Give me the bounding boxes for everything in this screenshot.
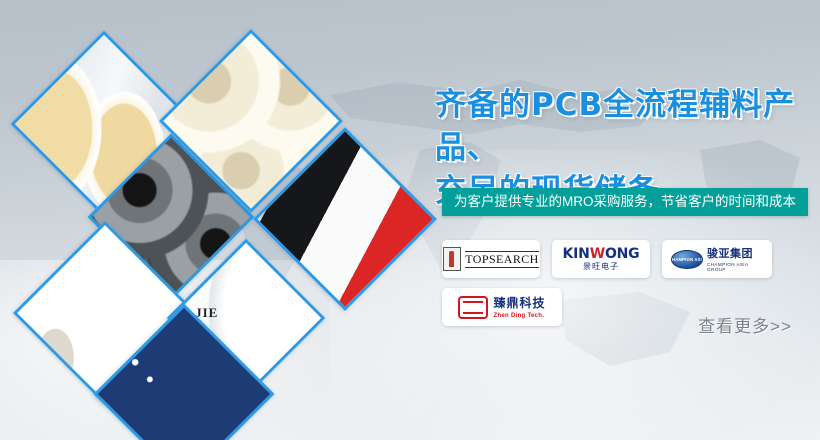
zhen-ding-wordmark-en: Zhen Ding Tech.: [493, 313, 545, 319]
product-tile-collage: JIE: [0, 0, 430, 440]
partner-logos-row-1: TOPSEARCH KINWONG 景旺电子 CHAMPION ASIA: [442, 240, 817, 278]
logo-kinwong[interactable]: KINWONG 景旺电子: [552, 240, 650, 278]
banner-content: 齐备的PCB全流程辅料产品、 充足的现货储备 为客户提供专业的MRO采购服务，节…: [430, 0, 820, 440]
kinwong-accent-letter: W: [590, 246, 605, 262]
zhending-mark-icon: [458, 296, 488, 319]
headline-line-1: 齐备的PCB全流程辅料产品、: [435, 84, 820, 170]
zhen-ding-wordmark-cn: 臻鼎科技: [493, 296, 545, 310]
logo-zhen-ding[interactable]: 臻鼎科技 Zhen Ding Tech.: [442, 288, 562, 326]
topsearch-wordmark: TOPSEARCH: [465, 251, 538, 268]
kinwong-wordmark: KINWONG: [563, 247, 640, 261]
kinwong-subtext: 景旺电子: [563, 263, 640, 271]
view-more-link[interactable]: 查看更多>>: [698, 312, 792, 337]
logo-topsearch[interactable]: TOPSEARCH: [442, 240, 540, 278]
globe-icon: CHAMPION ASIA: [671, 250, 703, 269]
subtitle-bar: 为客户提供专业的MRO采购服务，节省客户的时间和成本: [442, 188, 808, 216]
champion-asia-wordmark-cn: 骏亚集团: [707, 248, 753, 260]
logo-champion-asia[interactable]: CHAMPION ASIA 骏亚集团 CHAMPION ASIA GROUP: [662, 240, 772, 278]
promo-banner: JIE 齐备的PCB全流程辅料产品、 充足的现货储备 为客户提供专业的MRO采购…: [0, 0, 820, 440]
champion-asia-wordmark-en: CHAMPION ASIA GROUP: [707, 263, 763, 272]
topsearch-mark-icon: [443, 247, 461, 271]
globe-label: CHAMPION ASIA: [671, 257, 703, 262]
